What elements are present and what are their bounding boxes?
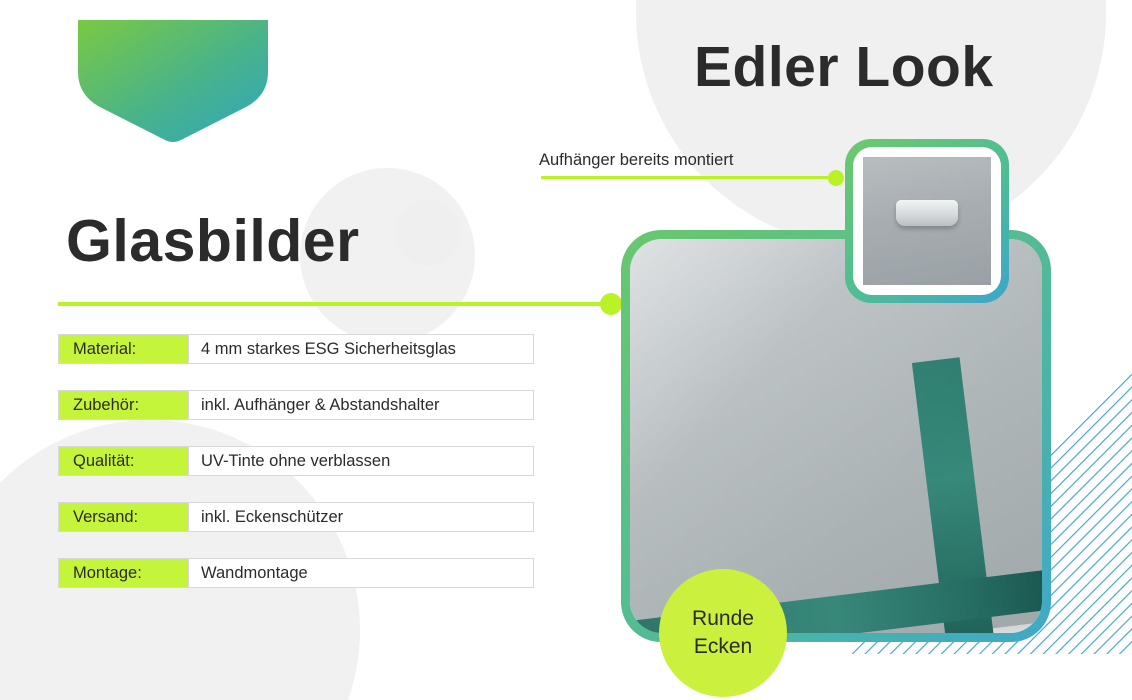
connector-dot-main [600, 293, 622, 315]
poster-canvas: Edler Look Glasbilder Material: 4 mm sta… [0, 0, 1132, 700]
spec-label: Qualität: [59, 447, 189, 475]
spec-value: inkl. Eckenschützer [189, 503, 343, 531]
badge-line-2: Ecken [694, 633, 752, 661]
background-shape-small [395, 200, 461, 266]
spec-row: Montage: Wandmontage [58, 558, 534, 588]
shield-logo-icon [78, 20, 268, 142]
connector-line-main [58, 302, 610, 306]
spec-value: Wandmontage [189, 559, 308, 587]
hanger-clip-icon [896, 200, 958, 226]
spec-list: Material: 4 mm starkes ESG Sicherheitsgl… [58, 334, 534, 614]
spec-label: Material: [59, 335, 189, 363]
connector-line-hanger [541, 176, 836, 179]
page-title-secondary: Edler Look [694, 34, 994, 100]
spec-row: Versand: inkl. Eckenschützer [58, 502, 534, 532]
rounded-corners-badge: Runde Ecken [659, 569, 787, 697]
badge-line-1: Runde [692, 605, 754, 633]
spec-label: Zubehör: [59, 391, 189, 419]
connector-dot-hanger [828, 170, 844, 186]
spec-row: Qualität: UV-Tinte ohne verblassen [58, 446, 534, 476]
spec-label: Montage: [59, 559, 189, 587]
spec-label: Versand: [59, 503, 189, 531]
spec-row: Material: 4 mm starkes ESG Sicherheitsgl… [58, 334, 534, 364]
spec-value: inkl. Aufhänger & Abstandshalter [189, 391, 440, 419]
hanger-detail-frame [845, 139, 1009, 303]
spec-row: Zubehör: inkl. Aufhänger & Abstandshalte… [58, 390, 534, 420]
hanger-callout-caption: Aufhänger bereits montiert [539, 151, 733, 170]
page-title: Glasbilder [66, 207, 360, 275]
hanger-detail-white-border [853, 147, 1001, 295]
spec-value: 4 mm starkes ESG Sicherheitsglas [189, 335, 456, 363]
spec-value: UV-Tinte ohne verblassen [189, 447, 390, 475]
hanger-detail-photo [863, 157, 991, 285]
